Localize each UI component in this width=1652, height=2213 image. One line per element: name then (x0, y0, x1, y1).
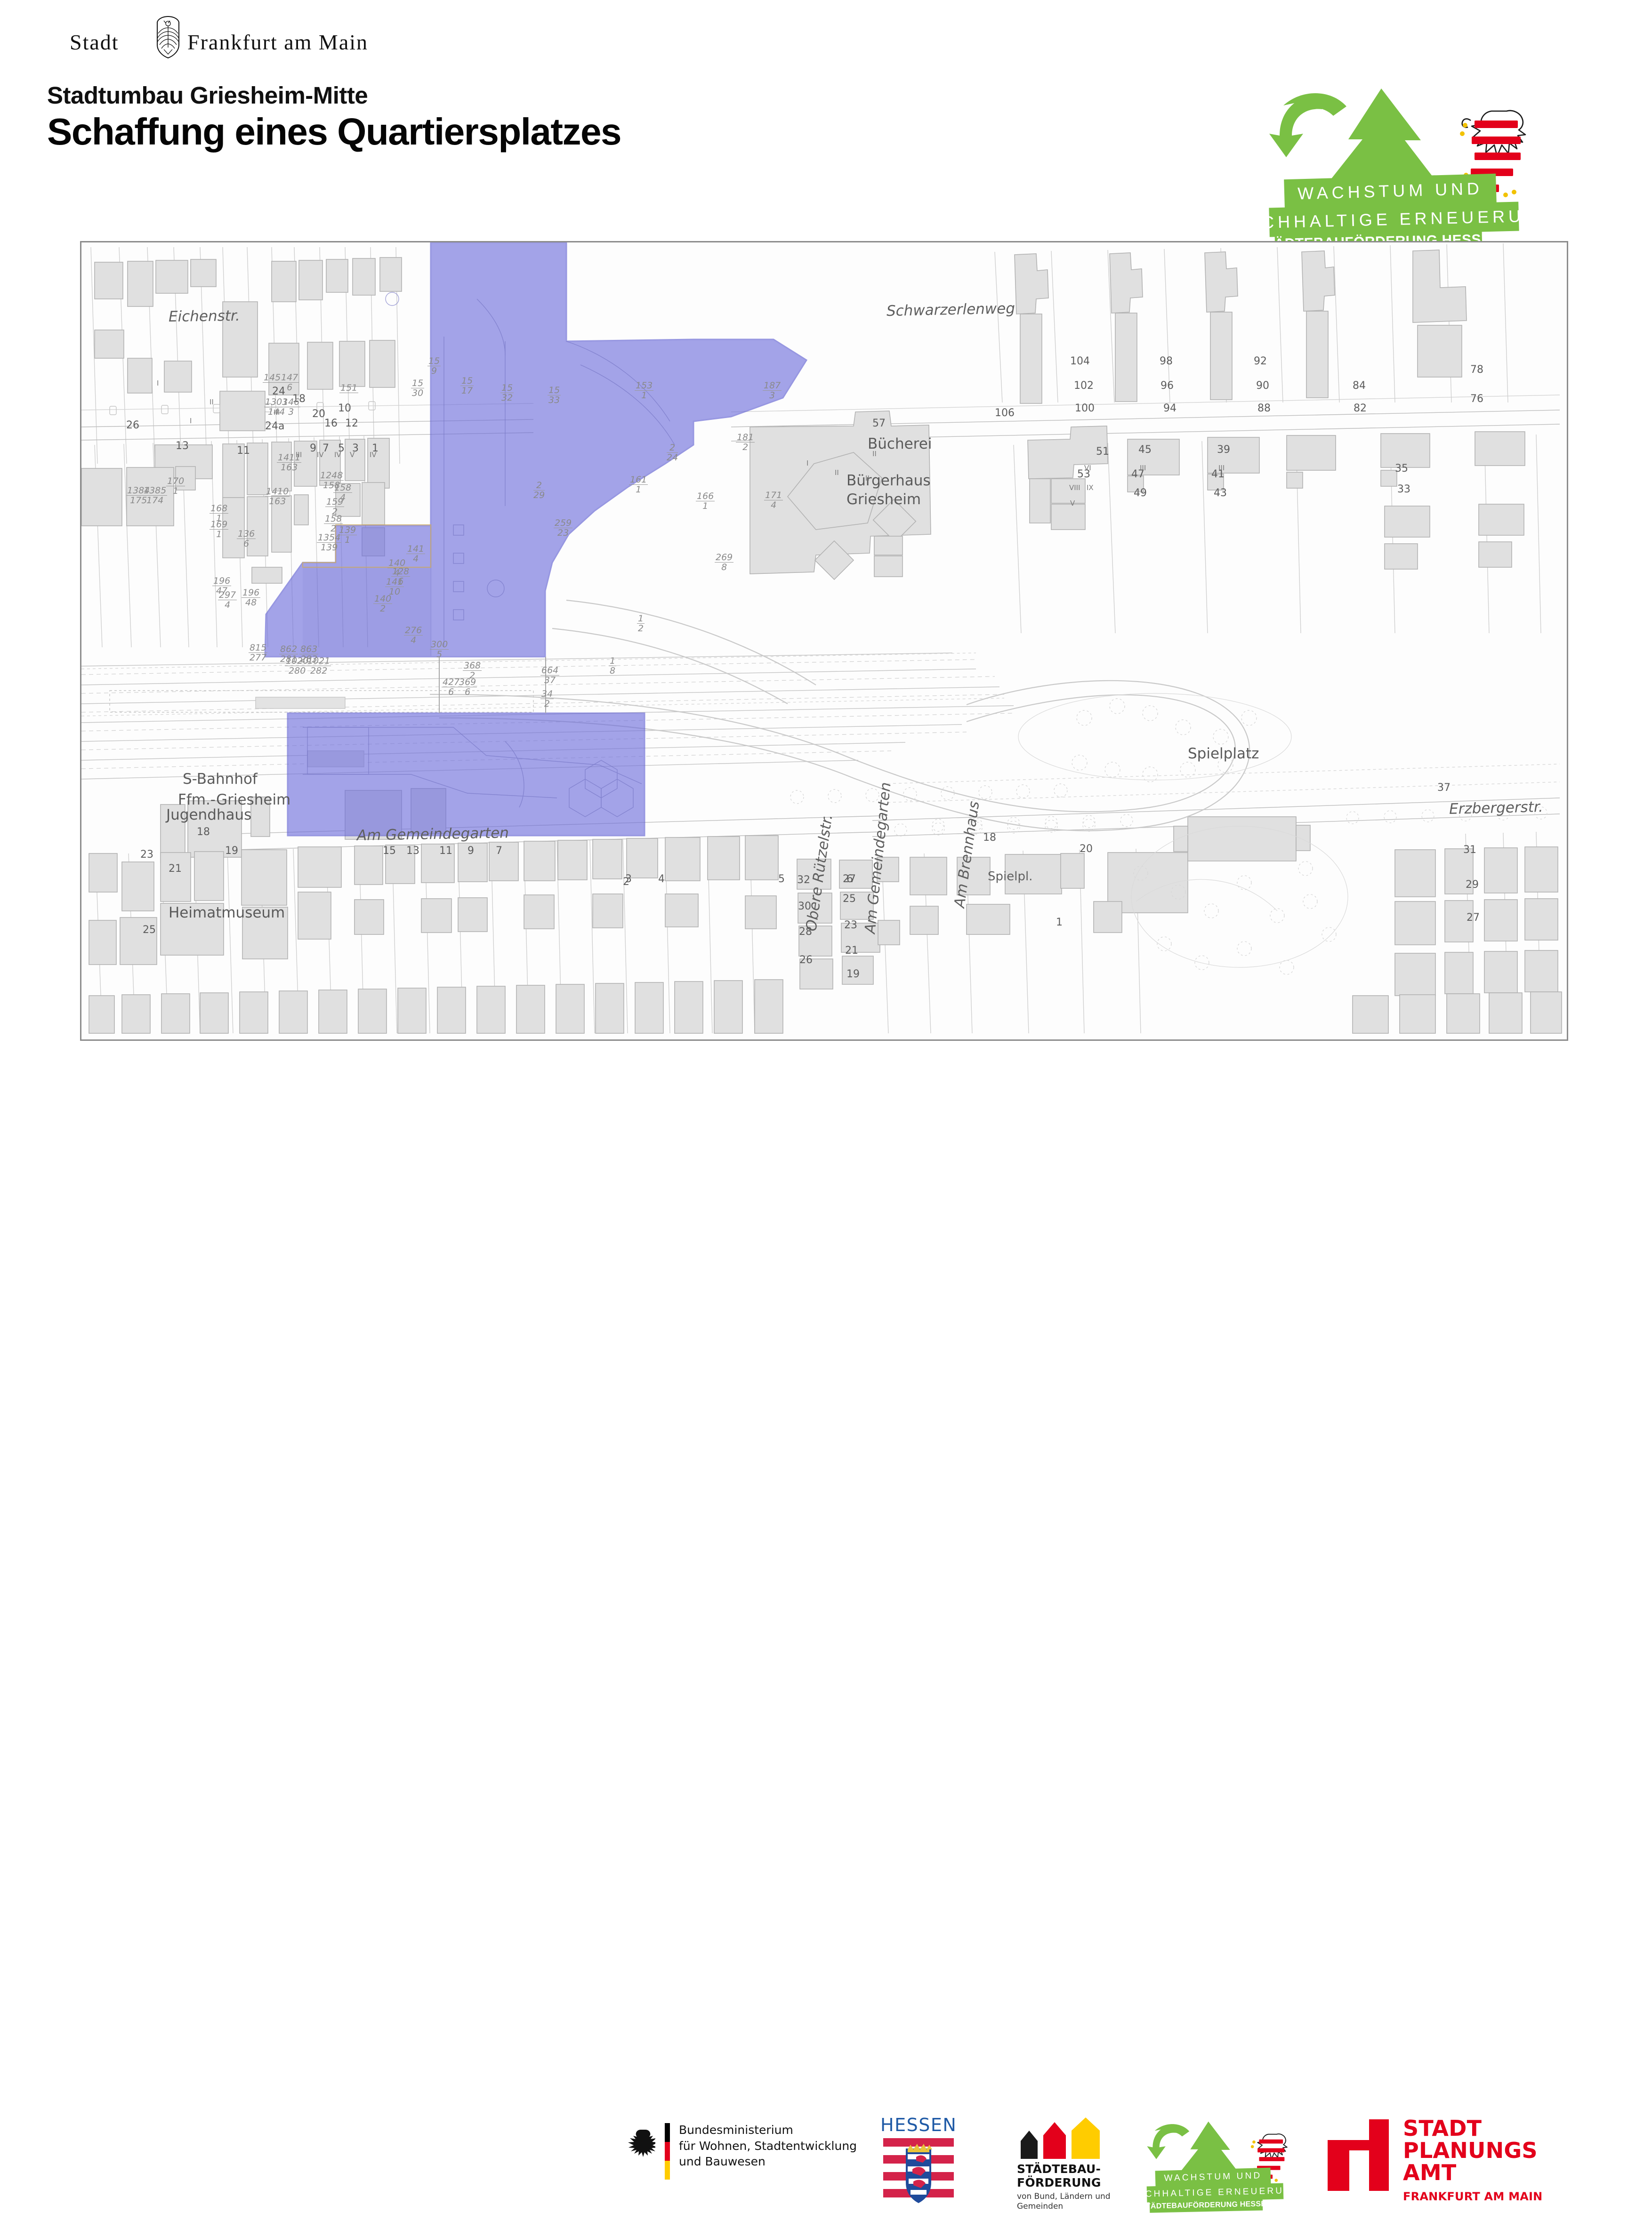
bmwsb-text: Bundesministerium für Wohnen, Stadtentwi… (679, 2122, 857, 2170)
title-block: Stadtumbau Griesheim-Mitte Schaffung ein… (47, 82, 621, 153)
logo-stadtplanungsamt: STADT PLANUNGS AMT FRANKFURT AM MAIN (1328, 2119, 1554, 2204)
logo-hessen: HESSEN (880, 2115, 956, 2209)
stbf-sub: von Bund, Ländern und Gemeinden (1017, 2192, 1111, 2212)
page-footer: Bundesministerium für Wohnen, Stadtentwi… (0, 1050, 1652, 1167)
logo-staedtebaufoerderung: STÄDTEBAU- FÖRDERUNG von Bund, Ländern u… (1007, 2117, 1116, 2207)
logo-bundesministerium: Bundesministerium für Wohnen, Stadtentwi… (626, 2122, 847, 2186)
page-title: Schaffung eines Quartiersplatzes (47, 111, 621, 153)
program-logo-wachstum-nachhaltige-erneuerung: WACHSTUM UND NACHHALTIGE ERNEUERUNG STÄD… (1265, 85, 1557, 226)
frankfurt-city-mark-icon (1328, 2119, 1389, 2191)
bmwsb-line1: Bundesministerium (679, 2122, 857, 2138)
german-flag-bar (665, 2123, 670, 2180)
spa-line3: AMT (1403, 2162, 1538, 2184)
bmwsb-line2: für Wohnen, Stadtentwicklung (679, 2138, 857, 2154)
hessen-coat-of-arms-icon (883, 2137, 954, 2207)
hessen-label: HESSEN (880, 2115, 956, 2135)
stbf-sub2: Gemeinden (1017, 2202, 1111, 2212)
program-logo-footer-line3: STÄDTEBAUFÖRDERUNG HESSEN (1150, 2198, 1263, 2213)
spa-title: STADT PLANUNGS AMT (1403, 2117, 1538, 2184)
map-vector-layer (81, 242, 1564, 1037)
bundesadler-icon (626, 2128, 655, 2162)
spa-line1: STADT (1403, 2117, 1538, 2140)
frankfurt-eagle-crest-icon (153, 16, 184, 59)
page-header: Stadt Frankfurt am Main Stadtumbau Gries… (0, 0, 1652, 226)
stbf-sub1: von Bund, Ländern und (1017, 2192, 1111, 2202)
spa-sub: FRANKFURT AM MAIN (1403, 2190, 1543, 2203)
program-logo-footer: WACHSTUM UND NACHHALTIGE ERNEUERUNG STÄD… (1145, 2119, 1300, 2204)
spa-line2: PLANUNGS (1403, 2140, 1538, 2162)
city-of-frankfurt-logo: Stadt Frankfurt am Main (70, 26, 371, 59)
project-subtitle: Stadtumbau Griesheim-Mitte (47, 82, 621, 108)
stbf-line1: STÄDTEBAU- (1017, 2163, 1101, 2176)
bmwsb-line3: und Bauwesen (679, 2154, 857, 2170)
city-logo-word-stadt: Stadt (70, 30, 119, 55)
city-logo-word-frankfurt: Frankfurt am Main (187, 30, 368, 55)
three-houses-icon (1017, 2117, 1106, 2159)
cadastral-map[interactable]: Eichenstr.SchwarzerlenwegAm Gemeindegart… (80, 241, 1568, 1041)
stbf-line2: FÖRDERUNG (1017, 2176, 1101, 2190)
stbf-title: STÄDTEBAU- FÖRDERUNG (1017, 2163, 1101, 2189)
